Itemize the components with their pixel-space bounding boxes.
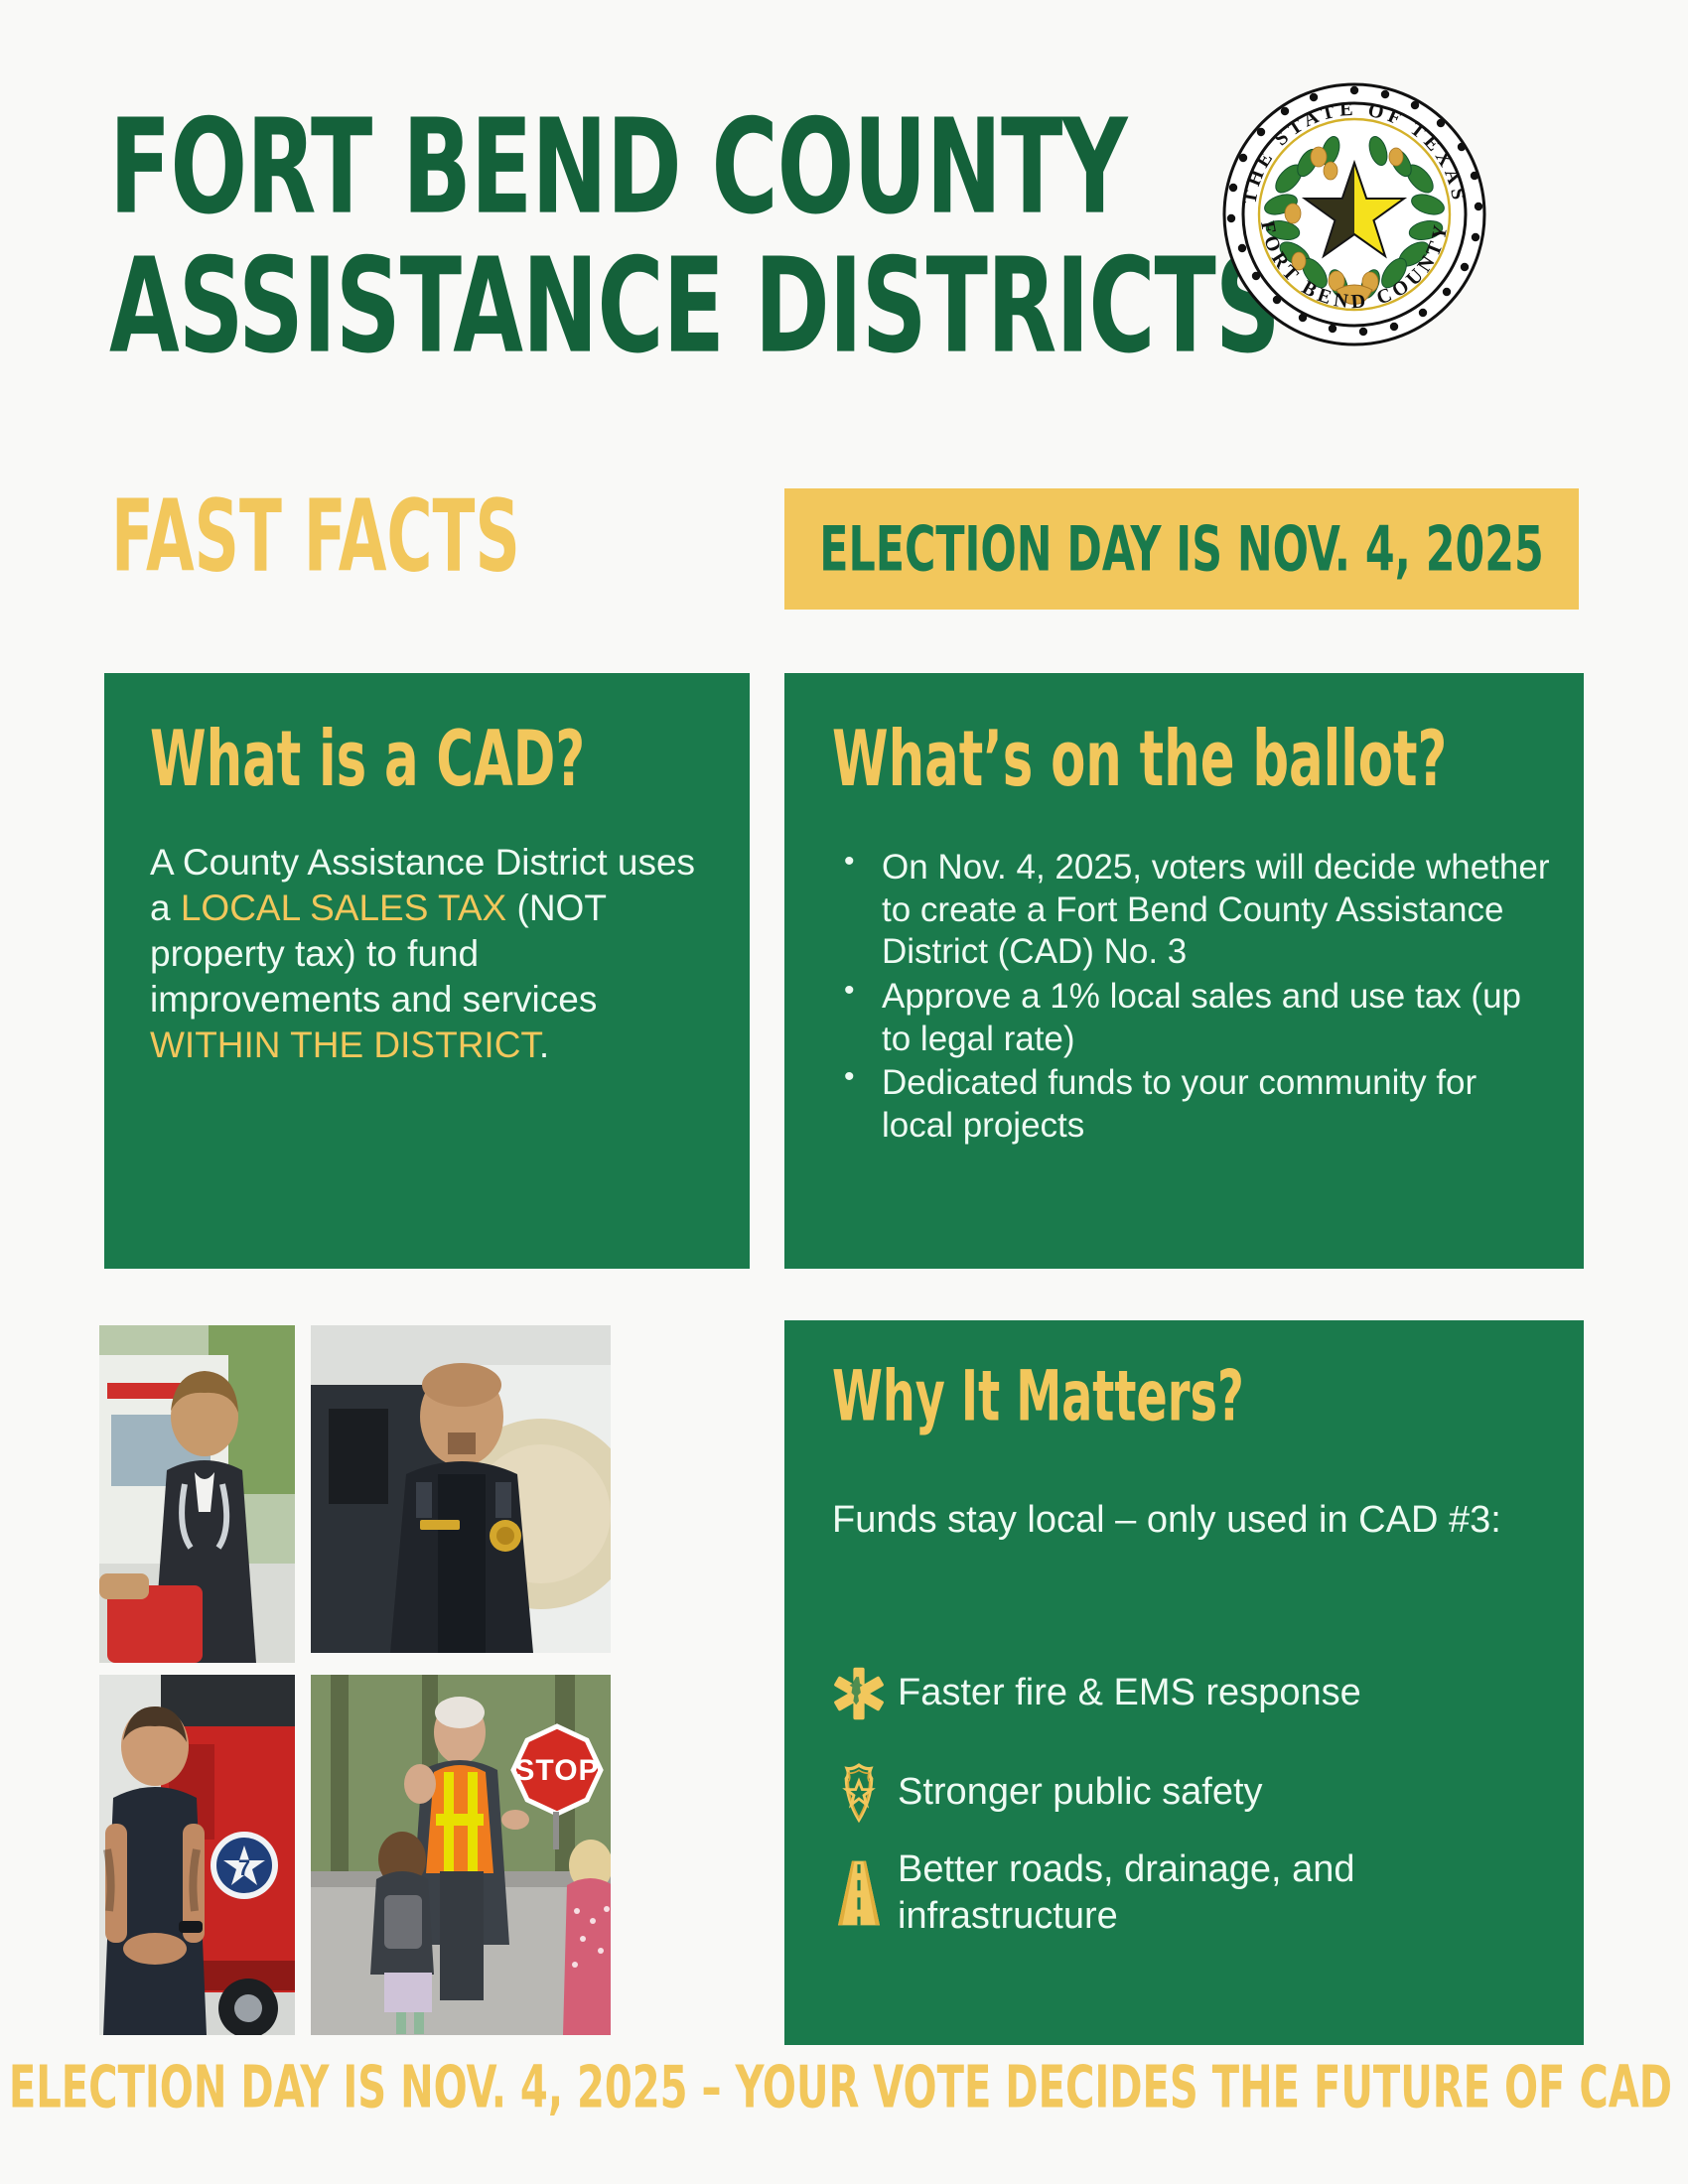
benefit-row-ems: Faster fire & EMS response: [820, 1648, 1555, 1739]
card-what-is-a-cad-body: A County Assistance District uses a LOCA…: [150, 840, 706, 1067]
photo-firefighter-graphic: 7: [99, 1675, 295, 2035]
list-item: On Nov. 4, 2025, voters will decide whet…: [838, 847, 1553, 974]
list-item: Dedicated funds to your community for lo…: [838, 1062, 1553, 1147]
election-day-banner-text: ELECTION DAY IS NOV. 4, 2025: [819, 513, 1543, 586]
benefit-label: Better roads, drainage, and infrastructu…: [898, 1846, 1555, 1940]
list-item: Approve a 1% local sales and use tax (up…: [838, 976, 1553, 1060]
photo-firefighter: 7: [99, 1675, 295, 2035]
seal-graphic: THE STATE OF TEXAS FORT BEND COUNTY: [1219, 79, 1489, 349]
benefit-label: Faster fire & EMS response: [898, 1670, 1361, 1716]
svg-text:STOP: STOP: [514, 1754, 599, 1787]
benefit-row-public-safety: Stronger public safety: [820, 1747, 1555, 1839]
fort-bend-county-seal: THE STATE OF TEXAS FORT BEND COUNTY: [1219, 79, 1489, 349]
star-of-life-glyph: [829, 1658, 889, 1729]
road-glyph: [831, 1858, 887, 1928]
photo-emt-paramedic: [99, 1325, 295, 1663]
benefits-list: Faster fire & EMS response Stronger publ…: [820, 1648, 1555, 1948]
card-why-it-matters-intro: Funds stay local – only used in CAD #3:: [832, 1497, 1527, 1544]
cad-text-part-1: LOCAL SALES TAX: [181, 887, 506, 928]
star-of-life-icon: [820, 1648, 898, 1739]
title-line-1: FORT BEND COUNTY: [109, 104, 1145, 232]
card-what-is-a-cad-heading: What is a CAD?: [150, 721, 585, 798]
page-title: FORT BEND COUNTY ASSISTANCE DISTRICTS: [109, 104, 1211, 348]
benefit-row-infrastructure: Better roads, drainage, and infrastructu…: [820, 1846, 1555, 1940]
svg-text:7: 7: [238, 1855, 250, 1880]
police-badge-icon: [820, 1747, 898, 1839]
photo-sheriff-deputy: [311, 1325, 611, 1653]
infographic-page: FORT BEND COUNTY ASSISTANCE DISTRICTS: [0, 0, 1688, 2184]
benefit-label: Stronger public safety: [898, 1769, 1263, 1816]
card-whats-on-the-ballot: What’s on the ballot? On Nov. 4, 2025, v…: [784, 673, 1584, 1269]
footer-banner: ELECTION DAY IS NOV. 4, 2025 – YOUR VOTE…: [0, 2061, 1688, 2114]
card-why-it-matters: Why It Matters? Funds stay local – only …: [784, 1320, 1584, 2045]
road-icon: [820, 1847, 898, 1939]
election-day-banner: ELECTION DAY IS NOV. 4, 2025: [784, 488, 1579, 610]
photo-crossing-guard: STOP: [311, 1675, 611, 2035]
ballot-bullet-list: On Nov. 4, 2025, voters will decide whet…: [838, 847, 1553, 1150]
header: FORT BEND COUNTY ASSISTANCE DISTRICTS: [0, 0, 1688, 467]
cad-text-part-3: WITHIN THE DISTRICT: [150, 1024, 539, 1065]
police-badge-glyph: [832, 1760, 886, 1826]
card-whats-on-the-ballot-heading: What’s on the ballot?: [832, 721, 1447, 798]
title-line-2: ASSISTANCE DISTRICTS: [109, 243, 1145, 371]
photo-sheriff-graphic: [311, 1325, 611, 1653]
cad-text-part-4: .: [539, 1024, 549, 1065]
card-why-it-matters-heading: Why It Matters?: [832, 1362, 1244, 1432]
photo-crossing-guard-graphic: STOP: [311, 1675, 611, 2035]
footer-banner-text: ELECTION DAY IS NOV. 4, 2025 – YOUR VOTE…: [9, 2053, 1688, 2121]
fast-facts-subtitle: FAST FACTS: [111, 486, 520, 586]
card-what-is-a-cad: What is a CAD? A County Assistance Distr…: [104, 673, 750, 1269]
photo-emt-graphic: [99, 1325, 295, 1663]
photo-grid: 7: [99, 1325, 750, 2040]
